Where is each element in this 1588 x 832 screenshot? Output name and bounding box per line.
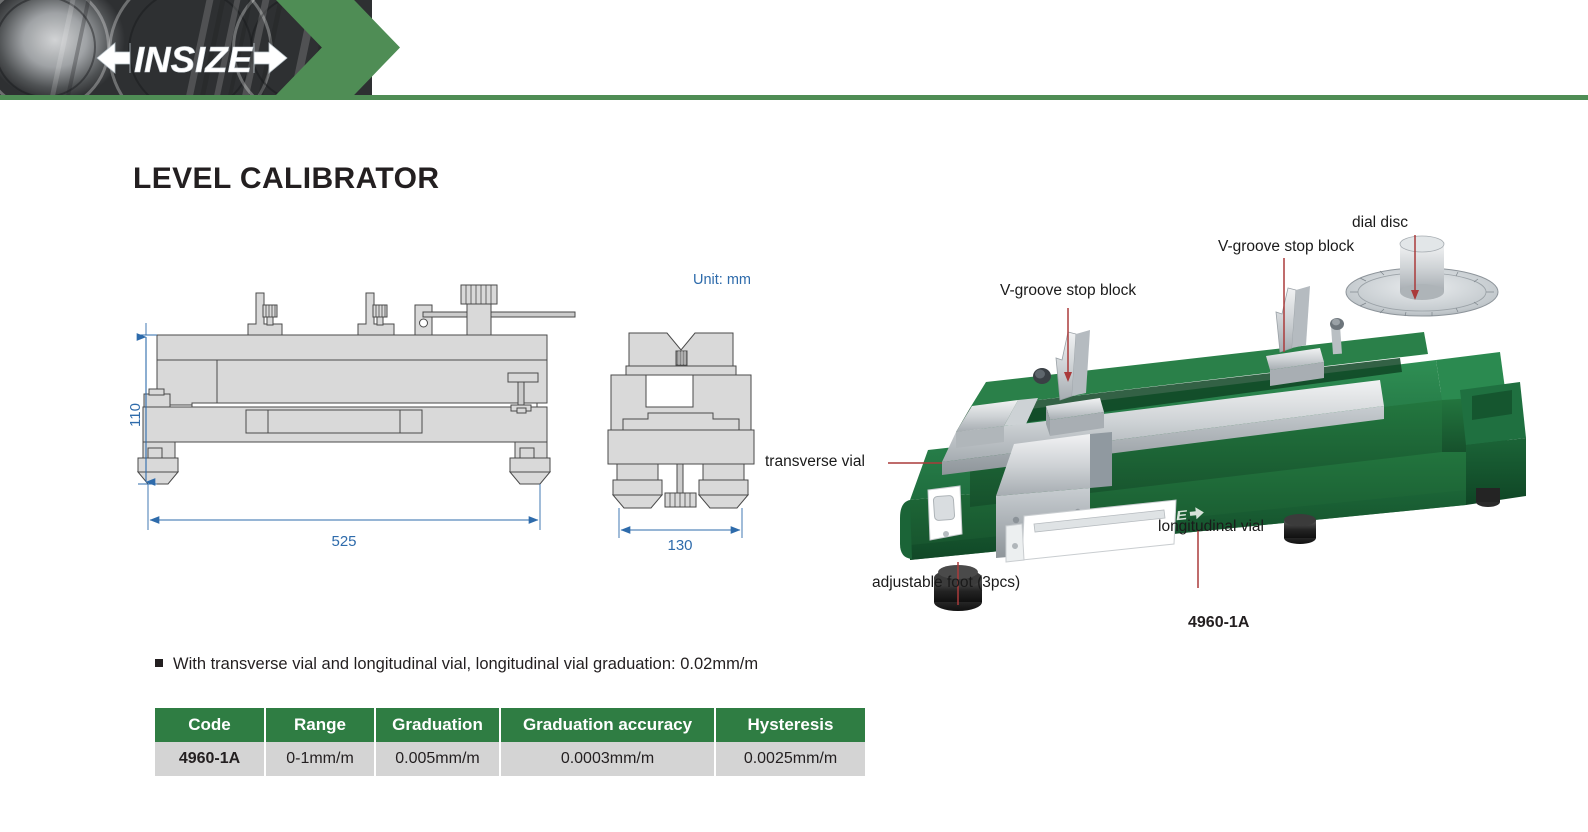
dimension-525: 525 xyxy=(331,533,356,550)
annotation-dial-disc: dial disc xyxy=(1352,214,1408,232)
cell-graduation: 0.005mm/m xyxy=(375,742,500,776)
column-header-hysteresis: Hysteresis xyxy=(715,708,865,742)
technical-drawing-group: Unit: mm xyxy=(130,255,770,565)
model-caption: 4960-1A xyxy=(1188,614,1249,632)
drawing-svg: 110 525 130 xyxy=(130,255,770,565)
cell-graduation-accuracy: 0.0003mm/m xyxy=(500,742,715,776)
column-header-graduation: Graduation xyxy=(375,708,500,742)
specification-table: Code Range Graduation Graduation accurac… xyxy=(155,708,865,776)
header-green-rule xyxy=(0,95,1588,100)
insize-logo-text: INSIZE xyxy=(134,39,253,80)
annotation-longitudinal-vial: longitudinal vial xyxy=(1158,518,1264,536)
cell-range: 0-1mm/m xyxy=(265,742,375,776)
adjustable-foot-far-right xyxy=(1476,488,1500,507)
product-photo-group: INSIZE xyxy=(760,200,1570,640)
annotation-adjustable-foot: adjustable foot (3pcs) xyxy=(872,574,1020,592)
cell-code: 4960-1A xyxy=(155,742,265,776)
page-title: LEVEL CALIBRATOR xyxy=(133,162,439,196)
adjustable-foot-rear xyxy=(1284,514,1316,544)
column-header-range: Range xyxy=(265,708,375,742)
feature-bullet-text: With transverse vial and longitudinal vi… xyxy=(173,655,758,674)
page-header: INSIZE xyxy=(0,0,1588,100)
annotation-transverse-vial: transverse vial xyxy=(765,453,865,471)
bullet-square-icon xyxy=(155,659,163,667)
dimension-130: 130 xyxy=(667,537,692,554)
dimension-110: 110 xyxy=(130,403,144,427)
annotation-v-groove-stop-block-right: V-groove stop block xyxy=(1218,238,1354,256)
page-root: INSIZE LEVEL CALIBRATOR Unit: mm xyxy=(0,0,1588,832)
dial-disc-assembly xyxy=(1346,236,1498,316)
annotation-v-groove-stop-block-left: V-groove stop block xyxy=(1000,282,1136,300)
table-row: 4960-1A 0-1mm/m 0.005mm/m 0.0003mm/m 0.0… xyxy=(155,742,865,776)
cell-hysteresis: 0.0025mm/m xyxy=(715,742,865,776)
table-header-row: Code Range Graduation Graduation accurac… xyxy=(155,708,865,742)
feature-bullet-row: With transverse vial and longitudinal vi… xyxy=(155,655,758,674)
column-header-code: Code xyxy=(155,708,265,742)
column-header-graduation-accuracy: Graduation accuracy xyxy=(500,708,715,742)
insize-logo: INSIZE xyxy=(96,35,288,81)
